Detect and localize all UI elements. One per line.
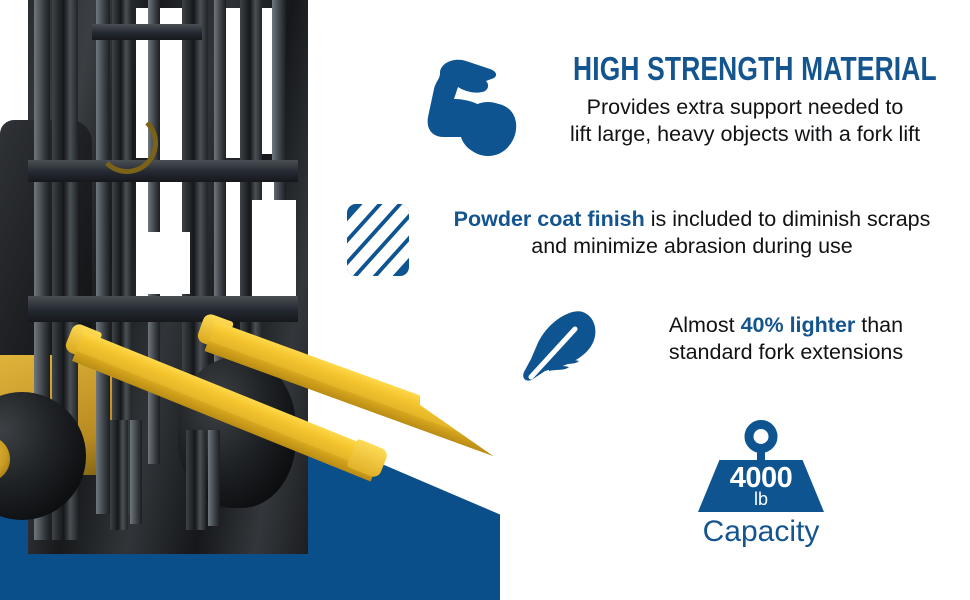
mast-gap: [226, 8, 240, 158]
feature-text: Almost 40% lighter than standard fork ex…: [614, 306, 958, 366]
capacity-label: Capacity: [686, 516, 836, 548]
hydraulic-hose: [96, 112, 158, 174]
feature-body-line1: Powder coat finish is included to dimini…: [428, 206, 956, 233]
mast-leg: [130, 420, 142, 524]
capacity-unit: lb: [698, 490, 824, 508]
feature-body-pre: Almost: [669, 313, 741, 337]
feature-body-post: than: [855, 313, 903, 337]
mast-crossbar: [28, 160, 298, 182]
feature-lighter: Almost 40% lighter than standard fork ex…: [512, 306, 960, 386]
weight-stem: [757, 448, 765, 462]
hatch-box: [347, 204, 409, 276]
feather-icon: [512, 306, 608, 386]
mast-leg: [110, 420, 128, 530]
powder-coat-hatch-icon: [336, 202, 420, 278]
feature-highlight: 40% lighter: [741, 313, 856, 337]
mast-leg: [186, 430, 206, 530]
weight-icon: 4000 lb: [698, 420, 824, 512]
mast-gap: [252, 200, 296, 304]
feature-body-line2: and minimize abrasion during use: [428, 233, 956, 260]
feature-high-strength: HIGH STRENGTH MATERIAL Provides extra su…: [420, 52, 960, 162]
flexed-bicep-icon: [420, 52, 524, 162]
mast-rail: [96, 0, 110, 514]
mast-gap: [140, 232, 190, 294]
infographic-banner: HIGH STRENGTH MATERIAL Provides extra su…: [0, 0, 970, 600]
mast-gap: [262, 8, 272, 154]
feature-body-line2: lift large, heavy objects with a fork li…: [530, 121, 960, 148]
feature-highlight: Powder coat finish: [454, 207, 645, 231]
feature-body-rest: is included to diminish scraps: [645, 207, 931, 231]
mast-gap: [226, 176, 240, 298]
feature-powder-coat: Powder coat finish is included to dimini…: [336, 202, 960, 278]
feature-body-line1: Provides extra support needed to: [530, 94, 960, 121]
mast-crossbar: [92, 24, 202, 40]
feature-text: HIGH STRENGTH MATERIAL Provides extra su…: [530, 52, 960, 148]
feature-text: Powder coat finish is included to dimini…: [428, 202, 956, 260]
feature-body-line2: standard fork extensions: [614, 339, 958, 366]
feature-body-line1: Almost 40% lighter than: [614, 312, 958, 339]
mast-crossbar: [28, 296, 298, 322]
feature-heading: HIGH STRENGTH MATERIAL: [573, 52, 917, 86]
capacity-badge: 4000 lb Capacity: [686, 420, 836, 548]
mast-leg: [208, 430, 220, 526]
